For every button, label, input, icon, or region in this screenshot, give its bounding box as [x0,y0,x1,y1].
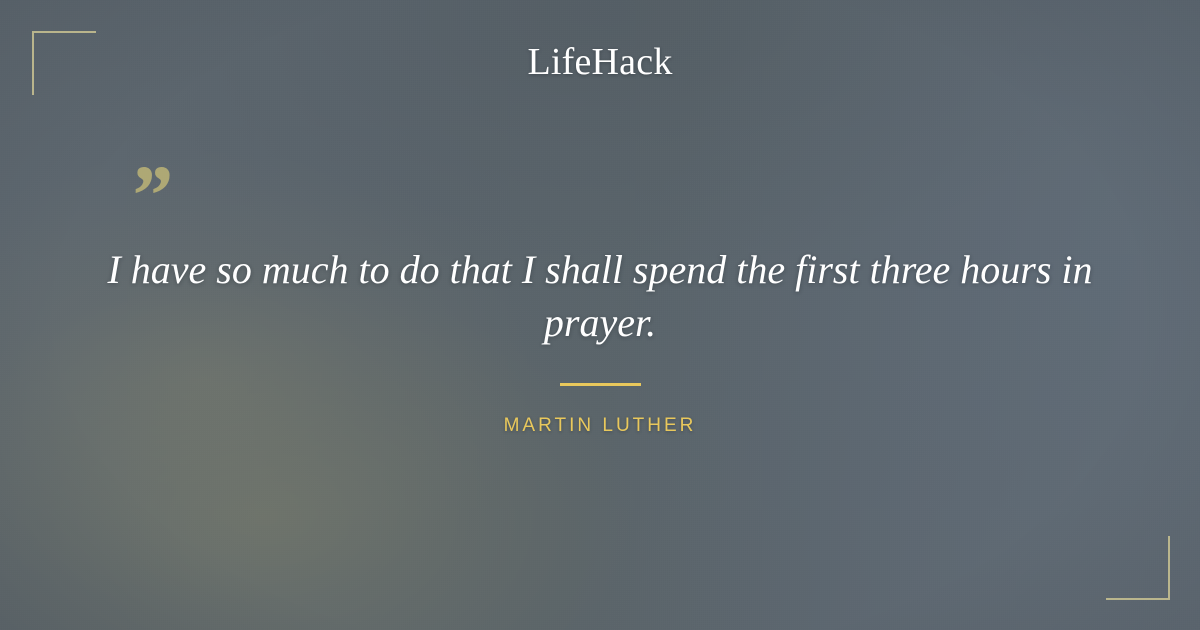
quotation-mark-icon: ” [128,152,171,238]
quote-author: MARTIN LUTHER [0,414,1200,438]
gold-divider [560,383,641,386]
quote-text: I have so much to do that I shall spend … [100,243,1100,349]
corner-bracket-bottom-right-icon [1106,536,1170,600]
brand-logo: LifeHack [0,40,1200,84]
quote-card: LifeHack ” I have so much to do that I s… [0,0,1200,630]
